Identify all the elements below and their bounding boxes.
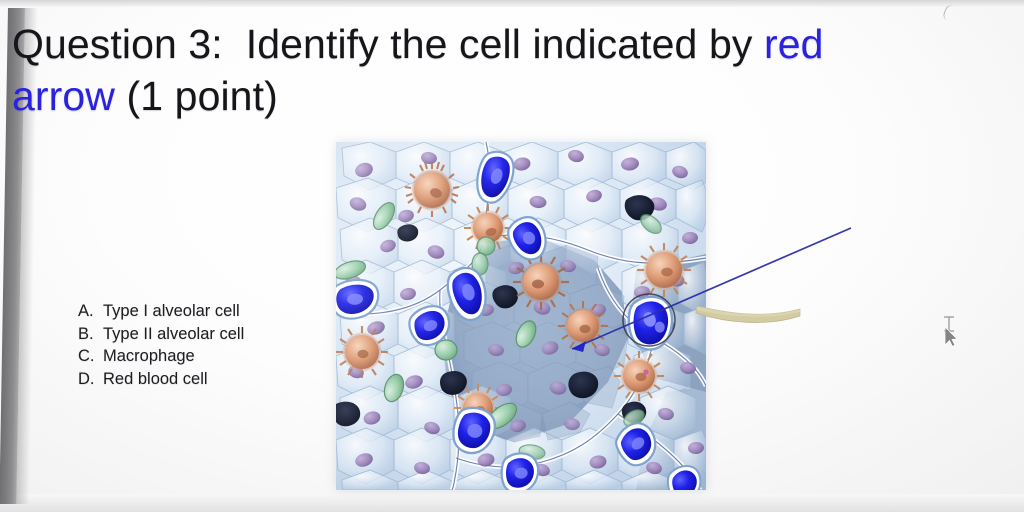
question-suffix: (1 point) — [115, 73, 278, 119]
question-highlight-red: red — [764, 21, 824, 67]
option-label: Macrophage — [103, 345, 195, 368]
option-letter: B. — [78, 323, 97, 346]
answer-options-list: A. Type I alveolar cell B. Type II alveo… — [78, 300, 338, 390]
alveoli-illustration — [336, 142, 706, 490]
answer-option-d[interactable]: D. Red blood cell — [78, 368, 338, 391]
question-text: Question 3: Identify the cell indicated … — [12, 18, 1012, 122]
arrow-pointer-icon — [945, 327, 957, 347]
option-letter: A. — [78, 300, 97, 323]
question-highlight-arrow: arrow — [12, 73, 115, 119]
screen-top-edge — [0, 0, 1024, 7]
answer-option-a[interactable]: A. Type I alveolar cell — [78, 300, 338, 323]
answer-option-c[interactable]: C. Macrophage — [78, 345, 338, 368]
option-letter: D. — [78, 368, 97, 391]
option-label: Red blood cell — [103, 368, 208, 391]
answer-option-b[interactable]: B. Type II alveolar cell — [78, 323, 338, 346]
option-label: Type II alveolar cell — [103, 323, 244, 346]
screen-bottom-edge — [0, 494, 1024, 512]
histology-figure — [336, 142, 706, 490]
option-label: Type I alveolar cell — [103, 300, 240, 323]
projection-screen: Question 3: Identify the cell indicated … — [0, 0, 1024, 512]
option-letter: C. — [78, 345, 97, 368]
question-prefix: Question 3: Identify the cell indicated … — [12, 21, 764, 67]
mouse-cursor[interactable] — [938, 314, 960, 352]
